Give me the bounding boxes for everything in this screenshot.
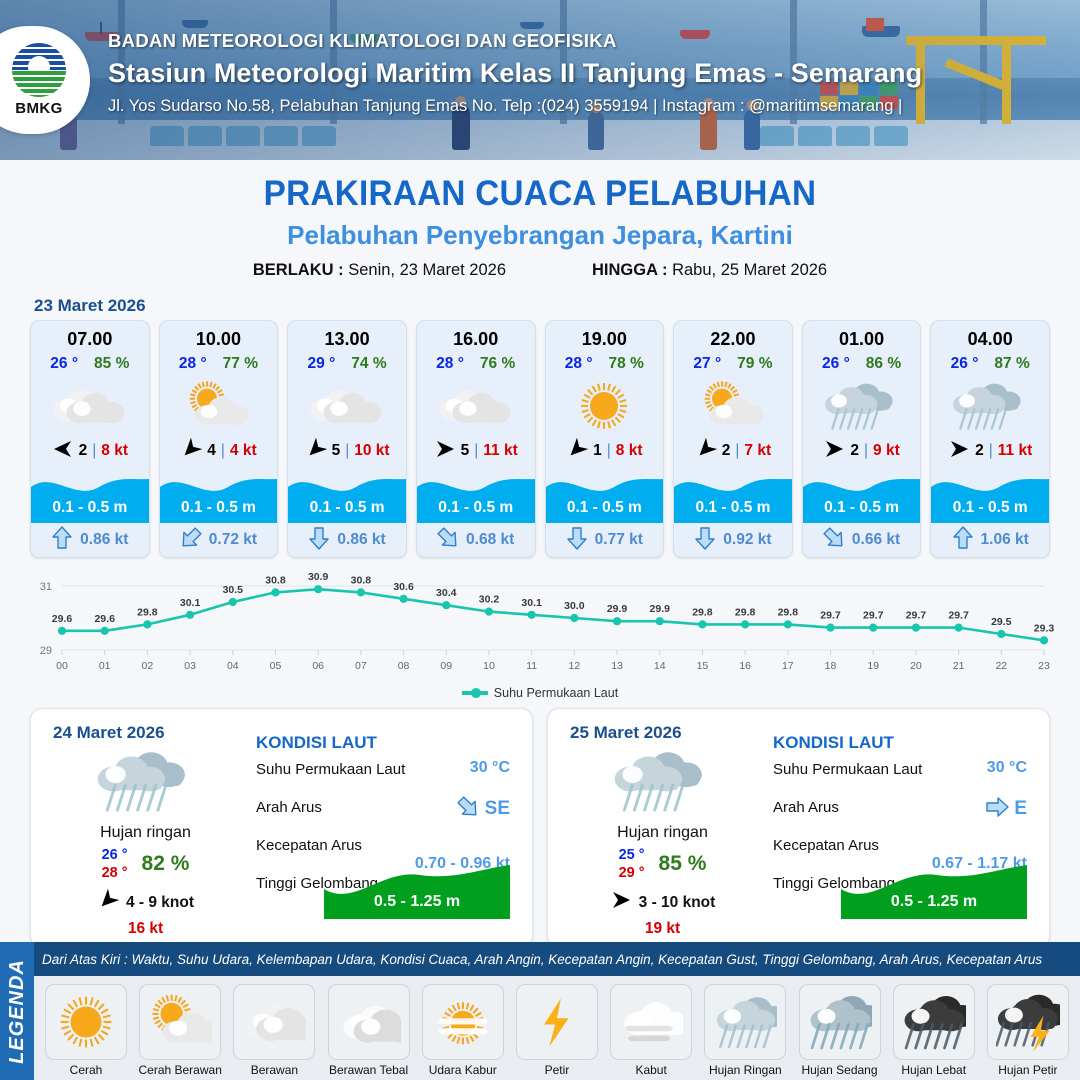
- card-weather-icon-cerah-berawan: [160, 375, 278, 437]
- svg-text:30.8: 30.8: [265, 574, 286, 586]
- card-wind-row: 2 | 7 kt: [674, 439, 792, 463]
- svg-text:16: 16: [739, 660, 751, 672]
- card-humidity: 86 %: [866, 355, 901, 373]
- svg-text:29.8: 29.8: [692, 606, 713, 618]
- svg-text:19: 19: [867, 660, 879, 672]
- card-wind-separator: |: [474, 442, 478, 460]
- legend-item: Cerah: [42, 984, 130, 1077]
- svg-text:05: 05: [270, 660, 282, 672]
- wave-height-value: 0.5 - 1.25 m: [324, 893, 510, 911]
- panel-temp-max: 29 °: [619, 864, 645, 882]
- hourly-card: 04.00 26 ° 87 % 2 | 11 kt 0.1 - 0.5 m: [930, 320, 1050, 558]
- panel-wind-range: 3 - 10 knot: [639, 894, 716, 912]
- berlaku-label: BERLAKU :: [253, 261, 344, 279]
- legend-item-label: Hujan Ringan: [701, 1063, 789, 1077]
- card-current-row: 0.66 kt: [803, 523, 921, 557]
- card-wind-speed: 5: [332, 442, 341, 460]
- svg-text:12: 12: [569, 660, 581, 672]
- legend-item: Hujan Petir: [984, 984, 1072, 1077]
- panel-weather-icon-hujan-ringan: [560, 745, 765, 822]
- legend-item: Berawan: [230, 984, 318, 1077]
- svg-text:29.9: 29.9: [607, 603, 628, 615]
- card-wave-height: 0.1 - 0.5 m: [417, 499, 535, 517]
- card-wind-row: 2 | 9 kt: [803, 439, 921, 463]
- card-wind-separator: |: [864, 442, 868, 460]
- card-current-speed: 0.86 kt: [337, 531, 385, 549]
- svg-text:29.7: 29.7: [948, 610, 969, 622]
- hingga-label: HINGGA :: [592, 261, 667, 279]
- svg-text:08: 08: [398, 660, 410, 672]
- card-weather-icon-berawan: [31, 375, 149, 437]
- title-block: PRAKIRAAN CUACA PELABUHAN Pelabuhan Peny…: [0, 174, 1080, 280]
- header-text-block: BADAN METEOROLOGI KLIMATOLOGI DAN GEOFIS…: [108, 30, 922, 116]
- card-temp-hum: 26 ° 86 %: [803, 355, 921, 373]
- panel-sea-conditions: KONDISI LAUT Suhu Permukaan Laut 30 °C A…: [773, 733, 1033, 911]
- card-gust-speed: 11 kt: [483, 442, 517, 460]
- legend-note: Dari Atas Kiri : Waktu, Suhu Udara, Kele…: [34, 942, 1080, 976]
- legend-icon-hujan-petir: [987, 984, 1069, 1060]
- card-wind-row: 1 | 8 kt: [546, 439, 664, 463]
- legend-tab: LEGENDA: [0, 942, 34, 1080]
- current-direction-arrow-icon: [986, 795, 1008, 823]
- card-temperature: 28 °: [436, 355, 464, 373]
- legend-icon-cerah: [45, 984, 127, 1060]
- card-wind-separator: |: [221, 442, 225, 460]
- card-wind-speed: 2: [79, 442, 88, 460]
- hourly-forecast-row: 07.00 26 ° 85 % 2 | 8 kt 0.1 - 0.5 m: [0, 320, 1080, 558]
- card-time: 22.00: [674, 321, 792, 350]
- card-current-speed: 0.92 kt: [723, 531, 771, 549]
- card-weather-icon-hujan-ringan: [931, 375, 1049, 437]
- sst-chart-svg: 293129.60029.60129.80230.10330.50430.805…: [20, 564, 1060, 684]
- panel-temps: 26 ° 28 °: [102, 846, 128, 882]
- sst-label: Suhu Permukaan Laut: [773, 761, 922, 778]
- card-temp-hum: 27 ° 79 %: [674, 355, 792, 373]
- current-direction-value-group: SE: [457, 795, 510, 823]
- legend-icon-cerah-berawan: [139, 984, 221, 1060]
- card-current-row: 0.72 kt: [160, 523, 278, 557]
- current-direction-arrow-icon: [823, 526, 845, 555]
- card-wave-height: 0.1 - 0.5 m: [546, 499, 664, 517]
- panel-temps: 25 ° 29 °: [619, 846, 645, 882]
- svg-text:29.8: 29.8: [778, 606, 799, 618]
- panel-temp-max: 28 °: [102, 864, 128, 882]
- current-direction-arrow-icon: [180, 526, 202, 555]
- hourly-card: 13.00 29 ° 74 % 5 | 10 kt 0.1 - 0.5 m: [287, 320, 407, 558]
- current-direction-arrow-icon: [457, 795, 479, 823]
- svg-text:30.4: 30.4: [436, 587, 457, 599]
- panel-gust: 16 kt: [43, 920, 248, 938]
- wind-direction-arrow-icon: [52, 439, 74, 464]
- card-wave-band: 0.1 - 0.5 m: [160, 467, 278, 523]
- station-address: Jl. Yos Sudarso No.58, Pelabuhan Tanjung…: [108, 97, 922, 116]
- wind-direction-arrow-icon: [823, 439, 845, 464]
- svg-text:15: 15: [697, 660, 709, 672]
- current-direction-arrow-icon: [437, 526, 459, 555]
- legend-icon-kabut: [610, 984, 692, 1060]
- chart-legend-label: Suhu Permukaan Laut: [494, 686, 618, 700]
- legend-item: Kabut: [607, 984, 695, 1077]
- card-wind-separator: |: [607, 442, 611, 460]
- panel-temp-hum: 26 ° 28 ° 82 %: [43, 846, 248, 882]
- sst-value: 30 °C: [470, 759, 510, 777]
- card-humidity: 87 %: [994, 355, 1029, 373]
- panel-condition: Hujan ringan: [560, 824, 765, 842]
- svg-text:29.9: 29.9: [650, 603, 671, 615]
- svg-text:07: 07: [355, 660, 367, 672]
- card-wind-row: 5 | 11 kt: [417, 439, 535, 463]
- page-title: PRAKIRAAN CUACA PELABUHAN: [27, 174, 1053, 214]
- current-direction-arrow-icon: [51, 526, 73, 555]
- card-current-row: 0.68 kt: [417, 523, 535, 557]
- wave-height-band: 0.5 - 1.25 m: [841, 863, 1027, 919]
- card-gust-speed: 9 kt: [873, 442, 900, 460]
- panel-left-block: Hujan ringan 26 ° 28 ° 82 % 4 - 9 knot 1…: [43, 745, 248, 938]
- card-current-speed: 0.68 kt: [466, 531, 514, 549]
- card-temp-hum: 26 ° 87 %: [931, 355, 1049, 373]
- current-direction-arrow-icon: [308, 526, 330, 555]
- hingga-value: Rabu, 25 Maret 2026: [672, 261, 827, 279]
- card-wind-speed: 5: [461, 442, 470, 460]
- card-time: 16.00: [417, 321, 535, 350]
- card-temperature: 26 °: [951, 355, 979, 373]
- card-wave-band: 0.1 - 0.5 m: [288, 467, 406, 523]
- card-wave-height: 0.1 - 0.5 m: [803, 499, 921, 517]
- svg-text:30.0: 30.0: [564, 600, 585, 612]
- card-wind-speed: 2: [975, 442, 984, 460]
- card-current-speed: 0.72 kt: [209, 531, 257, 549]
- panel-temp-hum: 25 ° 29 ° 85 %: [560, 846, 765, 882]
- svg-text:01: 01: [99, 660, 111, 672]
- card-humidity: 76 %: [480, 355, 515, 373]
- svg-text:30.5: 30.5: [223, 584, 244, 596]
- current-direction-row: Arah Arus SE: [256, 797, 516, 835]
- wind-direction-arrow-icon: [948, 439, 970, 464]
- svg-text:03: 03: [184, 660, 196, 672]
- panel-condition: Hujan ringan: [43, 824, 248, 842]
- wave-height-band: 0.5 - 1.25 m: [324, 863, 510, 919]
- panel-gust: 19 kt: [560, 920, 765, 938]
- agency-name: BADAN METEOROLOGI KLIMATOLOGI DAN GEOFIS…: [108, 30, 922, 52]
- svg-text:29.5: 29.5: [991, 616, 1012, 628]
- legend-item: Hujan Ringan: [701, 984, 789, 1077]
- daily-forecast-panel: 25 Maret 2026 Hujan ringan 25 ° 29 ° 85 …: [547, 708, 1050, 948]
- current-direction-value: SE: [485, 798, 510, 820]
- card-current-row: 0.86 kt: [288, 523, 406, 557]
- sst-value: 30 °C: [987, 759, 1027, 777]
- legend-item-label: Berawan: [230, 1063, 318, 1077]
- panel-weather-icon-hujan-ringan: [43, 745, 248, 822]
- card-gust-speed: 7 kt: [744, 442, 771, 460]
- card-current-speed: 1.06 kt: [981, 531, 1029, 549]
- legend-items: Cerah Cerah Berawan Berawan Beraw: [34, 976, 1080, 1080]
- card-wind-row: 4 | 4 kt: [160, 439, 278, 463]
- bmkg-logo-text: BMKG: [15, 100, 62, 117]
- current-direction-label: Arah Arus: [256, 799, 322, 816]
- card-time: 07.00: [31, 321, 149, 350]
- card-wind-speed: 2: [850, 442, 859, 460]
- card-wave-height: 0.1 - 0.5 m: [288, 499, 406, 517]
- svg-text:18: 18: [825, 660, 837, 672]
- sst-row: Suhu Permukaan Laut 30 °C: [256, 759, 516, 797]
- card-time: 13.00: [288, 321, 406, 350]
- legend-item: Udara Kabur: [419, 984, 507, 1077]
- svg-text:22: 22: [995, 660, 1007, 672]
- panel-humidity: 85 %: [659, 852, 707, 876]
- sea-conditions-title: KONDISI LAUT: [256, 733, 516, 753]
- legend-icon-berawan-tebal: [328, 984, 410, 1060]
- card-temp-hum: 28 ° 76 %: [417, 355, 535, 373]
- legend-item-label: Petir: [513, 1063, 601, 1077]
- current-direction-label: Arah Arus: [773, 799, 839, 816]
- card-time: 04.00: [931, 321, 1049, 350]
- card-wind-speed: 4: [207, 442, 216, 460]
- hourly-card: 01.00 26 ° 86 % 2 | 9 kt 0.1 - 0.5 m: [802, 320, 922, 558]
- berlaku-value: Senin, 23 Maret 2026: [348, 261, 506, 279]
- svg-text:11: 11: [526, 660, 537, 672]
- card-wave-height: 0.1 - 0.5 m: [160, 499, 278, 517]
- svg-text:23: 23: [1038, 660, 1050, 672]
- svg-text:04: 04: [227, 660, 239, 672]
- current-speed-label: Kecepatan Arus: [773, 837, 879, 854]
- card-wave-height: 0.1 - 0.5 m: [931, 499, 1049, 517]
- wind-direction-arrow-icon: [97, 890, 119, 915]
- validity-row: BERLAKU : Senin, 23 Maret 2026 HINGGA : …: [0, 261, 1080, 280]
- card-wind-separator: |: [735, 442, 739, 460]
- svg-text:06: 06: [312, 660, 324, 672]
- card-weather-icon-cerah-berawan: [674, 375, 792, 437]
- wind-direction-arrow-icon: [180, 439, 202, 464]
- card-humidity: 79 %: [737, 355, 772, 373]
- hourly-card: 07.00 26 ° 85 % 2 | 8 kt 0.1 - 0.5 m: [30, 320, 150, 558]
- card-wind-speed: 1: [593, 442, 602, 460]
- card-current-speed: 0.66 kt: [852, 531, 900, 549]
- card-wave-height: 0.1 - 0.5 m: [31, 499, 149, 517]
- wave-height-value: 0.5 - 1.25 m: [841, 893, 1027, 911]
- chart-legend: Suhu Permukaan Laut: [0, 686, 1080, 700]
- legend-item: Petir: [513, 984, 601, 1077]
- daily-forecast-panel: 24 Maret 2026 Hujan ringan 26 ° 28 ° 82 …: [30, 708, 533, 948]
- card-weather-icon-berawan: [288, 375, 406, 437]
- legend-item-label: Berawan Tebal: [325, 1063, 413, 1077]
- legend-icon-petir: [516, 984, 598, 1060]
- card-wind-separator: |: [345, 442, 349, 460]
- card-gust-speed: 4 kt: [230, 442, 257, 460]
- legend-item-label: Cerah: [42, 1063, 130, 1077]
- svg-text:30.8: 30.8: [351, 574, 372, 586]
- card-current-row: 0.77 kt: [546, 523, 664, 557]
- panel-date: 24 Maret 2026: [53, 723, 165, 743]
- legend-note-text: Dari Atas Kiri : Waktu, Suhu Udara, Kele…: [42, 952, 1042, 967]
- card-temperature: 29 °: [308, 355, 336, 373]
- card-humidity: 85 %: [94, 355, 129, 373]
- wind-direction-arrow-icon: [610, 890, 632, 915]
- card-wind-row: 2 | 8 kt: [31, 439, 149, 463]
- svg-text:02: 02: [142, 660, 154, 672]
- sst-row: Suhu Permukaan Laut 30 °C: [773, 759, 1033, 797]
- legend-bar: LEGENDA Dari Atas Kiri : Waktu, Suhu Uda…: [0, 942, 1080, 1080]
- svg-text:30.1: 30.1: [180, 597, 201, 609]
- card-wind-speed: 2: [722, 442, 731, 460]
- card-time: 10.00: [160, 321, 278, 350]
- card-wind-row: 5 | 10 kt: [288, 439, 406, 463]
- svg-text:17: 17: [782, 660, 794, 672]
- card-temperature: 28 °: [565, 355, 593, 373]
- card-wave-band: 0.1 - 0.5 m: [931, 467, 1049, 523]
- card-wind-row: 2 | 11 kt: [931, 439, 1049, 463]
- card-gust-speed: 8 kt: [101, 442, 128, 460]
- legend-item-label: Udara Kabur: [419, 1063, 507, 1077]
- card-temperature: 26 °: [50, 355, 78, 373]
- daily-forecast-row: 24 Maret 2026 Hujan ringan 26 ° 28 ° 82 …: [0, 700, 1080, 948]
- card-weather-icon-hujan-ringan: [803, 375, 921, 437]
- card-wave-band: 0.1 - 0.5 m: [31, 467, 149, 523]
- svg-text:29.7: 29.7: [820, 610, 841, 622]
- svg-text:13: 13: [611, 660, 623, 672]
- card-weather-icon-berawan: [417, 375, 535, 437]
- hourly-card: 16.00 28 ° 76 % 5 | 11 kt 0.1 - 0.5 m: [416, 320, 536, 558]
- card-wind-separator: |: [989, 442, 993, 460]
- card-humidity: 74 %: [351, 355, 386, 373]
- card-temperature: 26 °: [822, 355, 850, 373]
- svg-text:10: 10: [483, 660, 495, 672]
- svg-text:30.9: 30.9: [308, 571, 329, 583]
- card-gust-speed: 10 kt: [354, 442, 389, 460]
- svg-text:31: 31: [40, 581, 52, 593]
- card-time: 19.00: [546, 321, 664, 350]
- card-wave-band: 0.1 - 0.5 m: [674, 467, 792, 523]
- legend-icon-hujan-lebat: [893, 984, 975, 1060]
- legend-item: Cerah Berawan: [136, 984, 224, 1077]
- current-direction-arrow-icon: [694, 526, 716, 555]
- page-subtitle: Pelabuhan Penyebrangan Jepara, Kartini: [0, 220, 1080, 251]
- card-humidity: 78 %: [609, 355, 644, 373]
- card-current-row: 1.06 kt: [931, 523, 1049, 557]
- card-temperature: 27 °: [693, 355, 721, 373]
- card-current-row: 0.86 kt: [31, 523, 149, 557]
- panel-temp-min: 25 °: [619, 846, 645, 864]
- card-temp-hum: 29 ° 74 %: [288, 355, 406, 373]
- card-temp-hum: 28 ° 78 %: [546, 355, 664, 373]
- panel-humidity: 82 %: [142, 852, 190, 876]
- card-gust-speed: 8 kt: [616, 442, 643, 460]
- svg-text:21: 21: [953, 660, 965, 672]
- legend-item-label: Hujan Sedang: [796, 1063, 884, 1077]
- svg-text:30.2: 30.2: [479, 594, 500, 606]
- wave-height-row: Tinggi Gelombang 0.5 - 1.25 m: [773, 873, 1033, 911]
- legend-item: Hujan Lebat: [890, 984, 978, 1077]
- legend-item-label: Hujan Petir: [984, 1063, 1072, 1077]
- legend-tab-label: LEGENDA: [6, 959, 29, 1064]
- card-weather-icon-cerah: [546, 375, 664, 437]
- current-direction-value-group: E: [986, 795, 1027, 823]
- svg-text:29: 29: [40, 645, 52, 657]
- current-direction-value: E: [1014, 798, 1027, 820]
- hourly-card: 19.00 28 ° 78 % 1 | 8 kt 0.1 - 0.5 m 0.7…: [545, 320, 665, 558]
- hourly-card: 22.00 27 ° 79 % 2 | 7 kt 0.1 - 0.5 m 0.9…: [673, 320, 793, 558]
- station-name: Stasiun Meteorologi Maritim Kelas II Tan…: [108, 58, 922, 89]
- wave-height-row: Tinggi Gelombang 0.5 - 1.25 m: [256, 873, 516, 911]
- panel-date: 25 Maret 2026: [570, 723, 682, 743]
- card-time: 01.00: [803, 321, 921, 350]
- panel-wind-range: 4 - 9 knot: [126, 894, 194, 912]
- svg-text:29.3: 29.3: [1034, 622, 1055, 634]
- legend-icon-hujan-ringan: [704, 984, 786, 1060]
- card-wave-band: 0.1 - 0.5 m: [803, 467, 921, 523]
- legend-icon-berawan: [233, 984, 315, 1060]
- svg-text:14: 14: [654, 660, 666, 672]
- card-humidity: 77 %: [223, 355, 258, 373]
- svg-text:09: 09: [440, 660, 452, 672]
- chart-legend-swatch-icon: [462, 691, 488, 695]
- card-wave-height: 0.1 - 0.5 m: [674, 499, 792, 517]
- hingga-group: HINGGA : Rabu, 25 Maret 2026: [592, 261, 827, 280]
- svg-text:29.6: 29.6: [94, 613, 115, 625]
- panel-temp-min: 26 °: [102, 846, 128, 864]
- card-wave-band: 0.1 - 0.5 m: [417, 467, 535, 523]
- card-current-speed: 0.77 kt: [595, 531, 643, 549]
- panel-left-block: Hujan ringan 25 ° 29 ° 85 % 3 - 10 knot …: [560, 745, 765, 938]
- legend-item-label: Cerah Berawan: [136, 1063, 224, 1077]
- current-speed-label: Kecepatan Arus: [256, 837, 362, 854]
- card-current-speed: 0.86 kt: [80, 531, 128, 549]
- svg-text:29.8: 29.8: [735, 606, 756, 618]
- svg-text:29.7: 29.7: [906, 610, 927, 622]
- legend-item: Berawan Tebal: [325, 984, 413, 1077]
- current-direction-arrow-icon: [952, 526, 974, 555]
- panel-wind-row: 3 - 10 knot: [560, 890, 765, 915]
- card-temp-hum: 28 ° 77 %: [160, 355, 278, 373]
- panel-wind-row: 4 - 9 knot: [43, 890, 248, 915]
- legend-icon-udara-kabur: [422, 984, 504, 1060]
- legend-item: Hujan Sedang: [796, 984, 884, 1077]
- svg-text:30.1: 30.1: [521, 597, 542, 609]
- sst-chart: 293129.60029.60129.80230.10330.50430.805…: [20, 564, 1060, 684]
- hourly-date-label: 23 Maret 2026: [34, 296, 1080, 316]
- legend-icon-hujan-sedang: [799, 984, 881, 1060]
- card-current-row: 0.92 kt: [674, 523, 792, 557]
- svg-text:29.6: 29.6: [52, 613, 73, 625]
- page-header: BMKG BADAN METEOROLOGI KLIMATOLOGI DAN G…: [0, 0, 1080, 160]
- wind-direction-arrow-icon: [695, 439, 717, 464]
- legend-item-label: Kabut: [607, 1063, 695, 1077]
- wind-direction-arrow-icon: [434, 439, 456, 464]
- svg-text:00: 00: [56, 660, 68, 672]
- svg-text:29.8: 29.8: [137, 606, 158, 618]
- sst-label: Suhu Permukaan Laut: [256, 761, 405, 778]
- svg-text:20: 20: [910, 660, 922, 672]
- svg-text:30.6: 30.6: [393, 581, 414, 593]
- bmkg-logo-mark-icon: [12, 43, 66, 97]
- card-temperature: 28 °: [179, 355, 207, 373]
- current-direction-row: Arah Arus E: [773, 797, 1033, 835]
- current-direction-arrow-icon: [566, 526, 588, 555]
- sea-conditions-title: KONDISI LAUT: [773, 733, 1033, 753]
- svg-text:29.7: 29.7: [863, 610, 884, 622]
- panel-sea-conditions: KONDISI LAUT Suhu Permukaan Laut 30 °C A…: [256, 733, 516, 911]
- wind-direction-arrow-icon: [566, 439, 588, 464]
- card-gust-speed: 11 kt: [998, 442, 1032, 460]
- card-wave-band: 0.1 - 0.5 m: [546, 467, 664, 523]
- card-wind-separator: |: [92, 442, 96, 460]
- hourly-card: 10.00 28 ° 77 % 4 | 4 kt 0.1 - 0.5 m 0.7…: [159, 320, 279, 558]
- card-temp-hum: 26 ° 85 %: [31, 355, 149, 373]
- wind-direction-arrow-icon: [305, 439, 327, 464]
- berlaku-group: BERLAKU : Senin, 23 Maret 2026: [253, 261, 506, 280]
- legend-item-label: Hujan Lebat: [890, 1063, 978, 1077]
